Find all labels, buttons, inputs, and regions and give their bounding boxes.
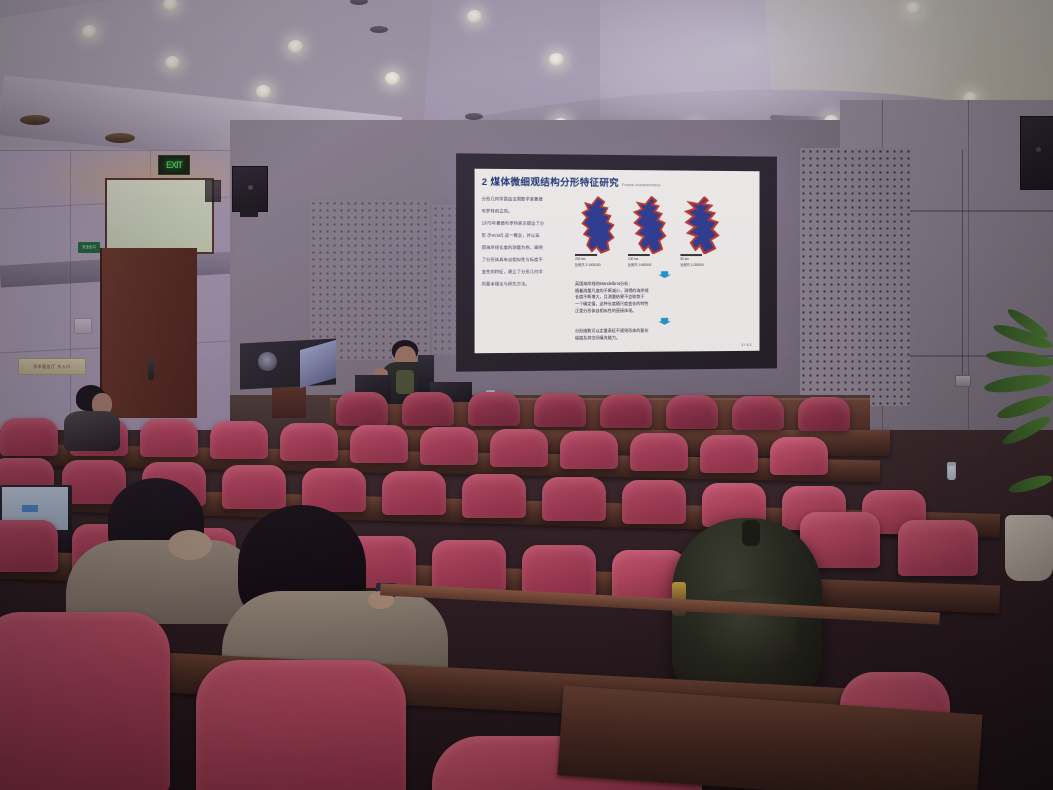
coastline-map-3: 50 km 比例尺 1:200000 (680, 196, 725, 267)
uk-coastline-icon (628, 196, 674, 254)
coastline-map-2: 100 km 比例尺 1:500000 (628, 196, 674, 267)
door-transom-window (105, 178, 214, 254)
map-caption: 比例尺 1:1000000 (575, 263, 621, 268)
seat[interactable] (0, 520, 58, 572)
seat[interactable] (402, 392, 454, 426)
seat[interactable] (210, 421, 268, 459)
plant-pot (1005, 515, 1053, 581)
down-arrow-icon-2 (658, 318, 671, 325)
map-scale-bar (628, 254, 650, 256)
seat[interactable] (522, 545, 596, 597)
ceiling-downlight (82, 25, 97, 38)
slide-para: 形 (fractal) 这一概念，并以英 (482, 232, 569, 239)
seat[interactable] (280, 423, 338, 461)
seat[interactable] (542, 477, 606, 521)
seat[interactable] (468, 392, 520, 426)
wall-speaker-left-small (205, 180, 221, 202)
ceiling-downlight (906, 2, 921, 15)
map-scale-label: 100 km (628, 257, 674, 262)
seat-foreground[interactable] (0, 612, 170, 790)
ceiling-downlight (549, 53, 564, 66)
room-plaque: 学术报告厅 东入口 (18, 358, 86, 375)
water-bottle (947, 462, 956, 480)
backpack-top-handle (742, 520, 760, 546)
acoustic-panel-right (800, 148, 910, 406)
lectern-emblem-icon (258, 352, 277, 371)
laptop-screen-content (22, 505, 38, 512)
slide-para: 的基本理论与研究方法。 (482, 280, 569, 287)
wall-speaker-right (1020, 116, 1053, 190)
seat[interactable] (798, 397, 850, 431)
seat[interactable] (140, 419, 198, 457)
slide-content: 2 煤体微细观结构分形特征研究 Fractal characteristics … (475, 169, 760, 354)
acoustic-panel-center-left (310, 200, 430, 360)
seat[interactable] (732, 396, 784, 430)
door-handle[interactable] (148, 358, 154, 380)
seat[interactable] (600, 394, 652, 428)
uk-coastline-icon (680, 196, 725, 254)
lecture-hall-photo: EXIT 安全出口 学术报告厅 东入口 2 煤体微细观结构分形特征研究 Frac… (0, 0, 1053, 790)
map-scale-bar (680, 254, 702, 256)
coastline-map-1: 200 km 比例尺 1:1000000 (575, 196, 621, 267)
map-scale-bar (575, 254, 597, 256)
seat[interactable] (630, 433, 688, 471)
seat-foreground[interactable] (196, 660, 406, 790)
seat[interactable] (336, 392, 388, 426)
ceiling-downlight (256, 85, 271, 98)
lectern-base (272, 384, 306, 418)
seat[interactable] (770, 437, 828, 475)
exit-sign: EXIT (158, 155, 190, 175)
map-scale-label: 200 km (575, 257, 621, 262)
slide-foot-line: 程度及其空间填充能力。 (575, 334, 753, 342)
wall-outlet (955, 375, 971, 387)
ceiling-warm-fixture (20, 115, 50, 125)
presenter-shirt (396, 370, 414, 394)
exit-plate: 安全出口 (78, 242, 100, 253)
seat[interactable] (534, 393, 586, 427)
ceiling-recess-fixture (465, 113, 483, 120)
seat[interactable] (462, 474, 526, 518)
ceiling-recess-fixture (370, 26, 388, 33)
seat[interactable] (666, 395, 718, 429)
slide-title: 2 煤体微细观结构分形特征研究 Fractal characteristics (482, 174, 753, 190)
room-plaque-label: 学术报告厅 东入口 (19, 359, 85, 374)
down-arrow-icon (658, 271, 671, 278)
seat[interactable] (898, 520, 978, 576)
ceiling-downlight (288, 40, 303, 53)
slide-para: 1975年曼德布罗特首次提出了分 (482, 219, 569, 226)
slide-para: 分形几何学是由法国数学家曼德 (482, 195, 569, 203)
slide-para: 国海岸线长度的测量为例，阐明 (482, 244, 569, 251)
map-caption: 比例尺 1:200000 (680, 263, 725, 268)
attendee-hand (168, 530, 212, 560)
projection-screen-frame: 2 煤体微细观结构分形特征研究 Fractal characteristics … (456, 153, 777, 371)
wall-speaker-left (232, 166, 268, 212)
projection-screen: 2 煤体微细观结构分形特征研究 Fractal characteristics … (475, 169, 760, 354)
slide-title-text: 2 煤体微细观结构分形特征研究 (482, 177, 619, 189)
speaker-bracket-left (240, 208, 258, 217)
attendee-torso (64, 411, 120, 451)
map-scale-label: 50 km (680, 257, 725, 262)
slide-note-line: 正是分形体自相似性的直接体现。 (575, 307, 753, 314)
acoustic-panel-behind-screen (432, 205, 458, 355)
slide-para: 布罗特创立的。 (482, 207, 569, 214)
slide-para: 了分形体具有自相似性与标度不 (482, 256, 569, 263)
seat[interactable] (490, 429, 548, 467)
seat[interactable] (560, 431, 618, 469)
seat[interactable] (0, 418, 58, 456)
ceiling-downlight (467, 10, 482, 23)
slide-page-number: 1/41 (575, 342, 753, 348)
seat[interactable] (420, 427, 478, 465)
exit-plate-label: 安全出口 (78, 242, 100, 253)
light-switch[interactable] (74, 318, 92, 334)
uk-coastline-icon (575, 196, 621, 255)
ceiling-downlight (385, 72, 400, 85)
ceiling-downlight (165, 56, 180, 69)
attendee-back-row-left (62, 385, 120, 447)
slide-left-column: 分形几何学是由法国数学家曼德 布罗特创立的。 1975年曼德布罗特首次提出了分 … (482, 195, 569, 349)
slide-right-column: 200 km 比例尺 1:1000000 100 km (575, 196, 753, 349)
seat[interactable] (700, 435, 758, 473)
map-caption: 比例尺 1:500000 (628, 263, 674, 268)
hanging-cable (962, 150, 963, 380)
slide-para: 变性的特征，建立了分形几何学 (482, 268, 569, 275)
seat[interactable] (622, 480, 686, 524)
seat[interactable] (350, 425, 408, 463)
exit-sign-label: EXIT (166, 160, 182, 170)
ceiling-warm-fixture (105, 133, 135, 143)
coastline-map-group: 200 km 比例尺 1:1000000 100 km (575, 196, 753, 267)
slide-title-subtext: Fractal characteristics (622, 182, 661, 187)
